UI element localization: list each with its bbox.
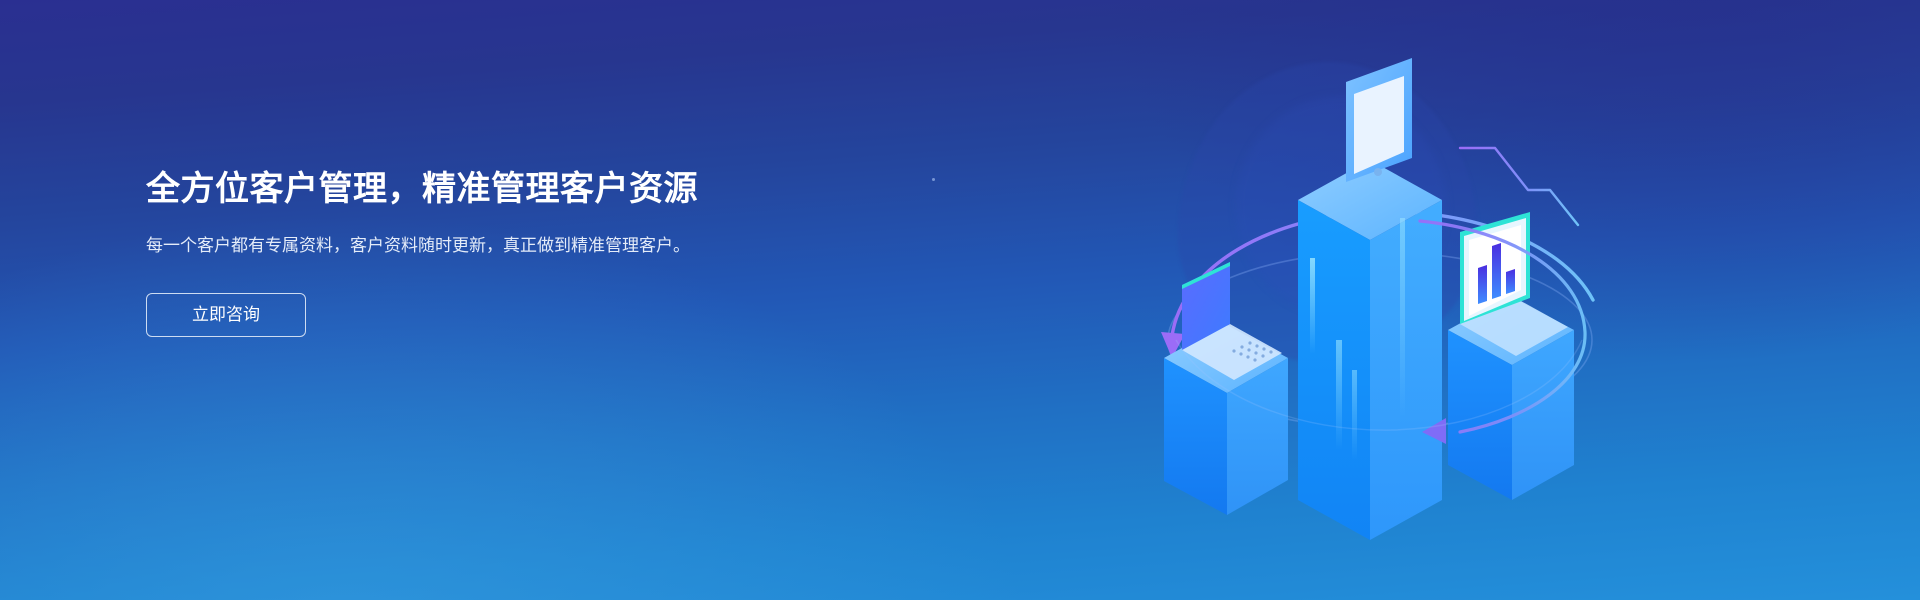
monitor-bar-1 [1478,265,1487,304]
center-pillar-glow-stripe-side [1400,218,1405,418]
hero-illustration [1130,40,1630,540]
center-pillar-front [1298,200,1370,540]
monitor-bar-3 [1506,269,1515,294]
center-pillar-glow-stripe-3 [1352,370,1357,460]
center-pillar-side [1370,200,1442,540]
background-speck [932,178,935,181]
center-pillar [1298,160,1442,540]
isometric-devices-illustration [1130,40,1630,540]
consult-now-button[interactable]: 立即咨询 [146,293,306,337]
page-title: 全方位客户管理，精准管理客户资源 [146,168,786,211]
tablet-home-button-icon [1374,168,1382,176]
monitor-bar-2 [1492,243,1501,299]
hero-banner: 全方位客户管理，精准管理客户资源 每一个客户都有专属资料，客户资料随时更新，真正… [0,0,1920,600]
center-pillar-glow-stripe-1 [1310,258,1315,354]
tablet-device [1346,58,1412,182]
center-pillar-glow-stripe-2 [1336,340,1342,450]
hero-copy-block: 全方位客户管理，精准管理客户资源 每一个客户都有专属资料，客户资料随时更新，真正… [146,168,786,337]
hero-subtitle: 每一个客户都有专属资料，客户资料随时更新，真正做到精准管理客户。 [146,233,731,259]
zigzag-line [1460,148,1578,225]
